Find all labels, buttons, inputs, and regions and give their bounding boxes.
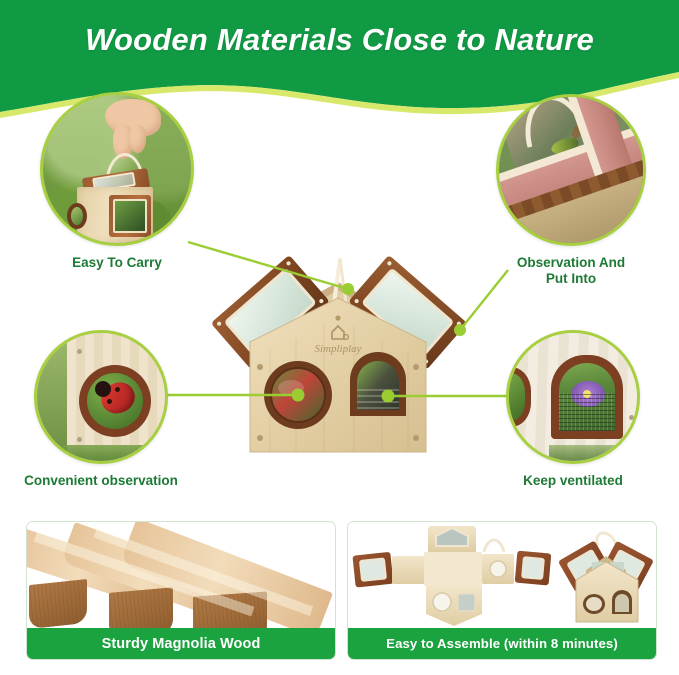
panel-image-magnolia-wood xyxy=(27,522,335,628)
callout-caption-keep-ventilated: Keep ventilated xyxy=(493,473,653,489)
callout-convenient-observation: Convenient observation xyxy=(34,330,201,489)
svg-text:Simpliplay: Simpliplay xyxy=(314,343,361,355)
panel-sturdy-magnolia-wood: Sturdy Magnolia Wood xyxy=(26,521,336,660)
panel-easy-to-assemble: Easy to Assemble (within 8 minutes) xyxy=(347,521,657,660)
callout-image-easy-to-carry xyxy=(40,92,194,246)
panel-label-easy-to-assemble: Easy to Assemble (within 8 minutes) xyxy=(348,628,656,659)
callout-image-observation xyxy=(496,94,646,246)
panel-label-magnolia-wood: Sturdy Magnolia Wood xyxy=(27,628,335,659)
callout-caption-convenient-observation: Convenient observation xyxy=(1,473,201,489)
panel-image-easy-to-assemble xyxy=(348,522,656,628)
callout-caption-observation: Observation And Put Into xyxy=(496,255,646,288)
page-title: Wooden Materials Close to Nature xyxy=(0,22,679,58)
product-infographic: Wooden Materials Close to Nature xyxy=(0,0,679,675)
callout-image-convenient-observation xyxy=(34,330,168,464)
bug-house-illustration: Simpliplay xyxy=(178,240,498,460)
product-bug-house: Simpliplay xyxy=(178,240,498,460)
callout-observation-and-put-into: Observation And Put Into xyxy=(496,94,646,288)
callout-keep-ventilated: Keep ventilated xyxy=(506,330,653,489)
callout-caption-easy-to-carry: Easy To Carry xyxy=(40,255,194,271)
callout-image-keep-ventilated xyxy=(506,330,640,464)
callout-easy-to-carry: Easy To Carry xyxy=(40,92,194,271)
assembly-illustration xyxy=(348,522,656,628)
